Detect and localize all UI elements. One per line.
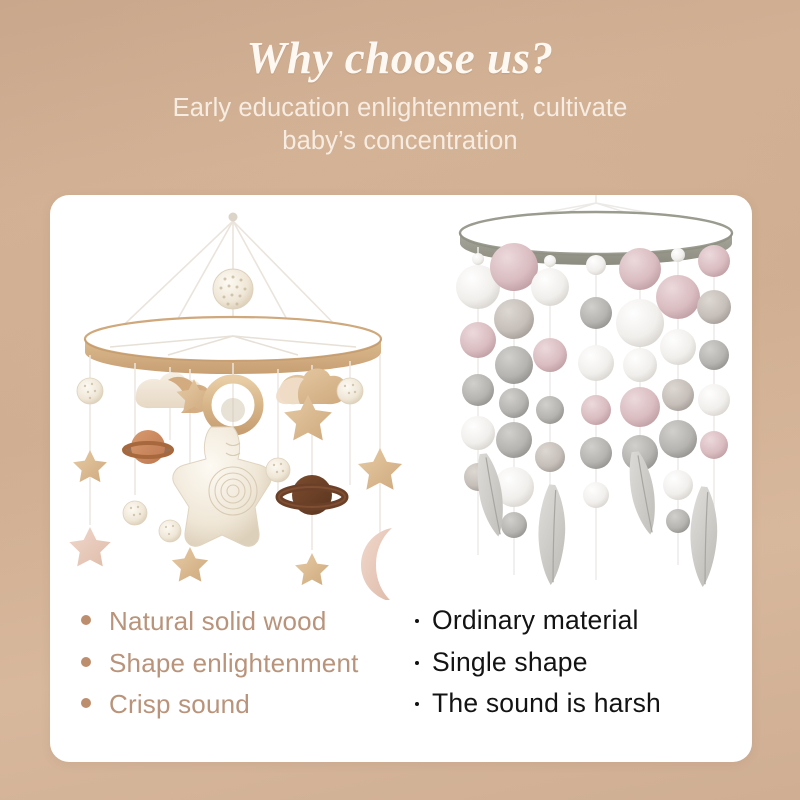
- pro-item-label: Crisp sound: [109, 691, 250, 717]
- pros-list: Natural solid wood Shape enlightenment C…: [81, 600, 441, 733]
- felt-ball: [495, 346, 533, 384]
- con-item-label: The sound is harsh: [432, 690, 661, 717]
- felt-ball: [461, 416, 495, 450]
- felt-ball: [700, 431, 728, 459]
- ornament-planet-walnut: [279, 475, 345, 515]
- list-item: Single shape: [415, 649, 745, 676]
- ornament-planet-saturn: [124, 430, 172, 464]
- comparison-card: Natural solid wood Shape enlightenment C…: [50, 195, 752, 762]
- ornament-crochet-ball: [123, 501, 147, 525]
- felt-ball: [490, 243, 538, 291]
- feature-lists: Natural solid wood Shape enlightenment C…: [50, 600, 752, 762]
- ornament-moon: [361, 528, 392, 600]
- felt-ball: [580, 437, 612, 469]
- felt-ball: [578, 345, 614, 381]
- ornament-cloud: [276, 369, 346, 405]
- felt-ball: [663, 470, 693, 500]
- bullet-dot-icon: [81, 657, 91, 667]
- ornament-star: [172, 547, 208, 582]
- list-item: The sound is harsh: [415, 690, 745, 717]
- pro-item-label: Natural solid wood: [109, 608, 327, 634]
- ornament-crochet-ball: [159, 520, 181, 542]
- felt-ball: [620, 387, 660, 427]
- ornament-star: [295, 553, 329, 585]
- felt-ball: [472, 253, 484, 265]
- felt-ball: [460, 322, 496, 358]
- felt-ball: [697, 290, 731, 324]
- ornament-crochet-ball: [266, 458, 290, 482]
- page-title: Why choose us?: [0, 0, 800, 81]
- list-item: Ordinary material: [415, 607, 745, 634]
- bullet-dot-icon: [81, 698, 91, 708]
- felt-ball: [616, 299, 664, 347]
- felt-ball: [536, 396, 564, 424]
- felt-ball: [501, 512, 527, 538]
- header: Why choose us? Early education enlighten…: [0, 0, 800, 157]
- page-subtitle-line-2: baby’s concentration: [0, 125, 800, 158]
- felt-ball: [586, 255, 606, 275]
- felt-ball: [698, 384, 730, 416]
- list-item: Shape enlightenment: [81, 650, 441, 676]
- ornament-crochet-star: [173, 427, 271, 546]
- felt-ball: [619, 248, 661, 290]
- felt-ball: [462, 374, 494, 406]
- bullet-dot-icon: [415, 661, 419, 665]
- ornament-crochet-ball-top: [213, 269, 253, 309]
- wooden-mobile-illustration: [50, 195, 440, 600]
- promo-banner: Why choose us? Early education enlighten…: [0, 0, 800, 800]
- felt-ball: [580, 297, 612, 329]
- felt-ball: [671, 248, 685, 262]
- felt-ball: [496, 422, 532, 458]
- bullet-dot-icon: [415, 619, 419, 623]
- page-subtitle-line-1: Early education enlightenment, cultivate: [0, 92, 800, 125]
- ornament-star: [69, 527, 110, 566]
- con-item-label: Ordinary material: [432, 607, 639, 634]
- list-item: Crisp sound: [81, 691, 441, 717]
- hanger-knot: [229, 213, 238, 222]
- felt-ball: [699, 340, 729, 370]
- con-item-label: Single shape: [432, 649, 588, 676]
- ornament-feather: [685, 486, 723, 588]
- felt-ball: [581, 395, 611, 425]
- page-subtitle: Early education enlightenment, cultivate…: [0, 81, 800, 157]
- felt-ball: [531, 268, 569, 306]
- felt-ball: [659, 420, 697, 458]
- ornament-crochet-ball: [337, 378, 363, 404]
- felt-ball: [666, 509, 690, 533]
- list-item: Natural solid wood: [81, 608, 441, 634]
- felt-ball: [662, 379, 694, 411]
- pro-item-label: Shape enlightenment: [109, 650, 359, 676]
- product-photo-area: [50, 195, 752, 600]
- product-image-left: [50, 195, 440, 600]
- felt-ball-mobile-illustration: [440, 195, 752, 600]
- felt-ball: [533, 338, 567, 372]
- felt-ball: [499, 388, 529, 418]
- felt-ball: [544, 255, 556, 267]
- felt-ball: [698, 245, 730, 277]
- bullet-dot-icon: [415, 702, 419, 706]
- ornament-crochet-ball: [77, 378, 103, 404]
- cons-list: Ordinary material Single shape The sound…: [415, 600, 745, 732]
- felt-ball: [494, 299, 534, 339]
- felt-ball: [583, 482, 609, 508]
- felt-ball: [656, 275, 700, 319]
- felt-ball: [623, 348, 657, 382]
- felt-ball: [660, 329, 696, 365]
- bullet-dot-icon: [81, 615, 91, 625]
- felt-ball: [535, 442, 565, 472]
- ornament-feather: [533, 484, 571, 586]
- product-image-right: [440, 195, 752, 600]
